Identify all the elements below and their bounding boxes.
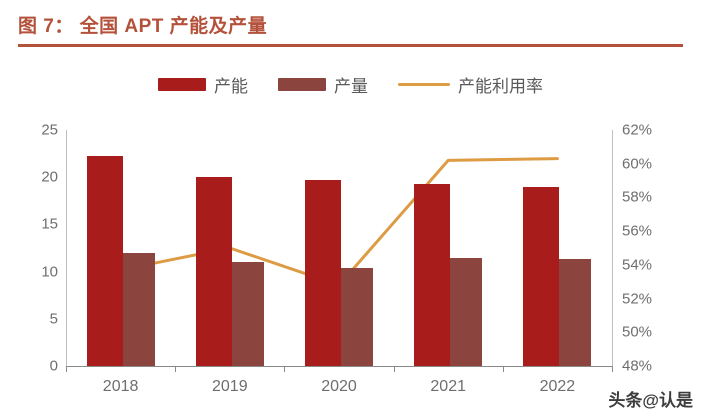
y-axis-right-tick: 60% bbox=[622, 155, 652, 172]
y-axis-right-tick: 56% bbox=[622, 223, 652, 240]
y-axis-right-labels: 48%50%52%54%56%58%60%62% bbox=[622, 0, 692, 415]
legend-label: 产量 bbox=[334, 72, 368, 97]
x-axis-tick-label: 2020 bbox=[321, 378, 357, 396]
y-axis-left-tick: 15 bbox=[41, 216, 58, 233]
x-axis-tick-mark bbox=[284, 367, 285, 372]
page-title: 图 7： 全国 APT 产能及产量 bbox=[18, 14, 683, 40]
legend-label: 产能 bbox=[214, 72, 248, 97]
bar-output bbox=[119, 253, 155, 366]
y-axis-left-tick: 0 bbox=[50, 358, 58, 375]
y-axis-right-line bbox=[612, 130, 613, 367]
bar-capacity bbox=[414, 184, 450, 366]
bar-output bbox=[228, 262, 264, 366]
legend-label: 产能利用率 bbox=[458, 72, 543, 97]
bar-capacity bbox=[196, 177, 232, 366]
bar-output bbox=[555, 259, 591, 366]
x-axis-tick-label: 2018 bbox=[103, 378, 139, 396]
x-axis-tick-label: 2021 bbox=[430, 378, 466, 396]
y-axis-right-tick: 62% bbox=[622, 122, 652, 139]
y-axis-right-tick: 54% bbox=[622, 256, 652, 273]
x-axis-tick-mark bbox=[394, 367, 395, 372]
bar-capacity bbox=[87, 156, 123, 367]
legend-item-2: 产量 bbox=[278, 72, 368, 97]
x-axis-tick-label: 2022 bbox=[540, 378, 576, 396]
y-axis-right-tick: 52% bbox=[622, 290, 652, 307]
legend-swatch bbox=[278, 78, 326, 91]
x-axis-tick-mark bbox=[612, 367, 613, 372]
y-axis-right-tick: 58% bbox=[622, 189, 652, 206]
plot-area bbox=[66, 130, 612, 366]
y-axis-right-tick: 48% bbox=[622, 358, 652, 375]
x-axis-tick-label: 2019 bbox=[212, 378, 248, 396]
watermark: 头条@认是 bbox=[608, 386, 693, 411]
bar-capacity bbox=[305, 180, 341, 366]
legend-item-3: 产能利用率 bbox=[398, 72, 543, 97]
y-axis-left-tick: 5 bbox=[50, 310, 58, 327]
legend-swatch bbox=[158, 78, 206, 91]
bar-capacity bbox=[523, 187, 559, 366]
legend-line-marker bbox=[398, 83, 450, 86]
chart-legend: 产能产量产能利用率 bbox=[0, 72, 701, 97]
title-block: 图 7： 全国 APT 产能及产量 bbox=[18, 14, 683, 47]
x-axis-tick-mark bbox=[175, 367, 176, 372]
y-axis-left-tick: 20 bbox=[41, 169, 58, 186]
legend-item-1: 产能 bbox=[158, 72, 248, 97]
bar-output bbox=[446, 258, 482, 366]
title-divider bbox=[18, 44, 683, 47]
y-axis-left-tick: 25 bbox=[41, 122, 58, 139]
x-axis-tick-mark bbox=[66, 367, 67, 372]
y-axis-left-tick: 10 bbox=[41, 263, 58, 280]
y-axis-left-labels: 0510152025 bbox=[0, 0, 58, 415]
bar-output bbox=[337, 268, 373, 366]
x-axis-tick-mark bbox=[503, 367, 504, 372]
y-axis-right-tick: 50% bbox=[622, 324, 652, 341]
x-axis-line bbox=[66, 366, 613, 367]
